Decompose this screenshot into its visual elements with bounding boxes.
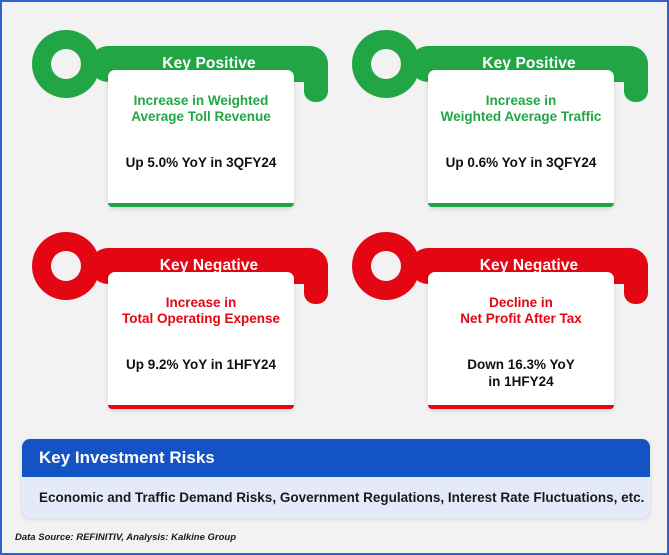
risks-body-text: Economic and Traffic Demand Risks, Gover…	[22, 477, 650, 518]
card-metric: Up 5.0% YoY in 3QFY24	[108, 154, 294, 171]
card-body: Decline in Net Profit After Tax Down 16.…	[428, 272, 614, 409]
card-body: Increase in Weighted Average Toll Revenu…	[108, 70, 294, 207]
risks-title: Key Investment Risks	[22, 439, 650, 477]
card-body: Increase in Weighted Average Traffic Up …	[428, 70, 614, 207]
card-headline: Increase in Weighted Average Toll Revenu…	[125, 93, 277, 125]
card-metric: Up 0.6% YoY in 3QFY24	[428, 154, 614, 171]
key-investment-risks-panel: Key Investment Risks Economic and Traffi…	[22, 439, 650, 518]
infographic-page: Key Positive Increase in Weighted Averag…	[0, 0, 669, 555]
key-card-negative-net-profit: Key Negative Decline in Net Profit After…	[344, 220, 662, 420]
key-head-hole-icon	[51, 251, 81, 281]
card-headline: Increase in Total Operating Expense	[116, 295, 286, 327]
card-body: Increase in Total Operating Expense Up 9…	[108, 272, 294, 409]
key-card-positive-toll-revenue: Key Positive Increase in Weighted Averag…	[24, 18, 342, 218]
card-headline: Increase in Weighted Average Traffic	[435, 93, 608, 125]
key-head-hole-icon	[371, 49, 401, 79]
key-card-positive-traffic: Key Positive Increase in Weighted Averag…	[344, 18, 662, 218]
card-metric: Down 16.3% YoY in 1HFY24	[428, 356, 614, 390]
key-cards-grid: Key Positive Increase in Weighted Averag…	[2, 2, 667, 430]
key-card-negative-operating-expense: Key Negative Increase in Total Operating…	[24, 220, 342, 420]
card-headline: Decline in Net Profit After Tax	[454, 295, 588, 327]
card-metric: Up 9.2% YoY in 1HFY24	[108, 356, 294, 373]
key-head-hole-icon	[51, 49, 81, 79]
source-footnote: Data Source: REFINITIV, Analysis: Kalkin…	[15, 532, 236, 543]
key-head-hole-icon	[371, 251, 401, 281]
